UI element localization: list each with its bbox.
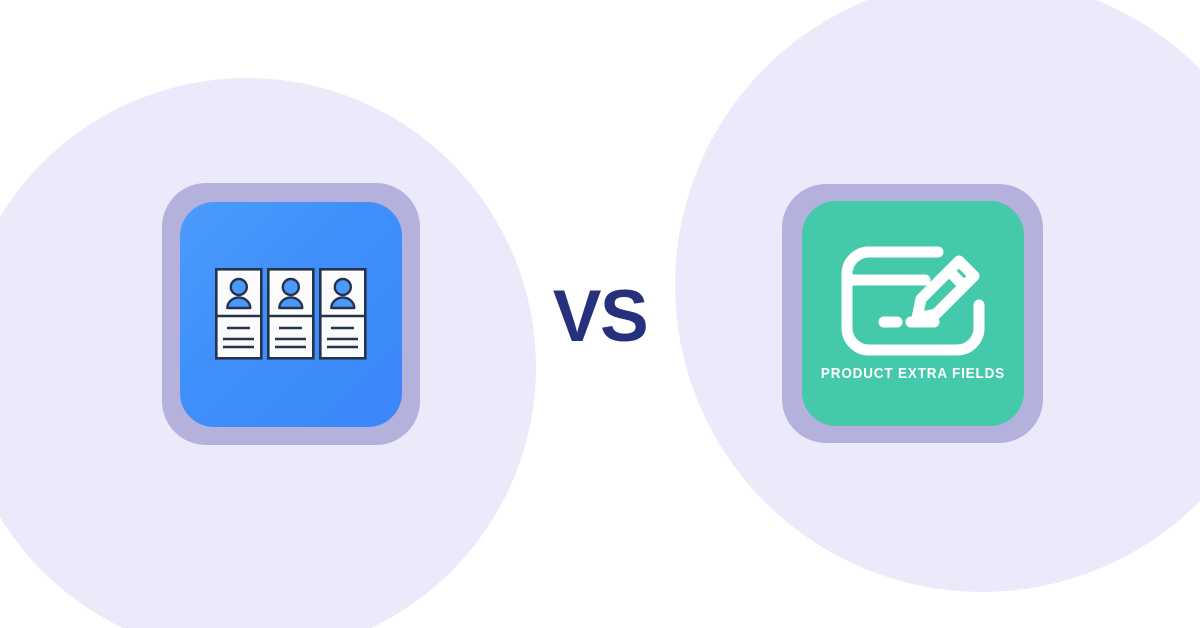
card-edit-icon [837, 242, 989, 360]
comparison-banner: VS PRODUCT EXTRA FIELDS [0, 0, 1200, 628]
right-app-label: PRODUCT EXTRA FIELDS [820, 367, 1004, 382]
right-app-icon-surface: PRODUCT EXTRA FIELDS [802, 201, 1024, 426]
right-app-tile[interactable]: PRODUCT EXTRA FIELDS [782, 184, 1043, 443]
